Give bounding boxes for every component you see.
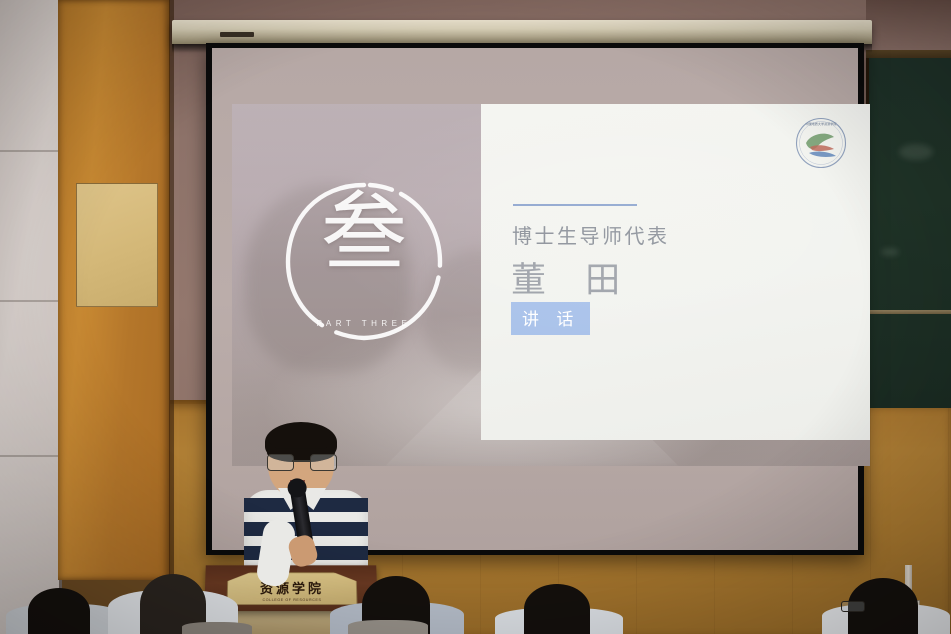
section-caption: PART THREE [278, 319, 450, 328]
audience-head [28, 588, 90, 634]
left-plaster-wall [0, 0, 62, 634]
audience-shoulder [348, 620, 428, 634]
podium-subtitle: COLLEGE OF RESOURCES [228, 598, 357, 602]
title-rule [513, 204, 637, 206]
wooden-door-panel [58, 0, 170, 580]
projected-slide: 叁 PART THREE 中国地质大学资源学院 博士生导师代表 董 田 讲 话 [232, 104, 870, 466]
speech-badge: 讲 话 [511, 302, 590, 335]
audience-glasses-icon [841, 601, 865, 612]
section-emblem: 叁 PART THREE [278, 176, 450, 348]
slide-content-card: 中国地质大学资源学院 博士生导师代表 董 田 讲 话 [481, 104, 870, 440]
university-seal-icon: 中国地质大学资源学院 [794, 116, 848, 170]
door-placard [76, 183, 158, 307]
svg-text:中国地质大学资源学院: 中国地质大学资源学院 [806, 121, 837, 126]
screen-roller-housing [172, 20, 872, 44]
right-plaster-strip [866, 0, 951, 52]
speaker-name: 董 田 [511, 252, 634, 303]
chalkboard [866, 58, 951, 408]
speaker-role-title: 博士生导师代表 [512, 220, 670, 249]
speaker-glasses-icon [267, 454, 335, 469]
audience-shoulder [182, 622, 252, 634]
audience-head [524, 584, 590, 634]
podium-title: 资源学院 [228, 578, 356, 597]
podium-nameplate: 资源学院 COLLEGE OF RESOURCES [227, 572, 358, 605]
lecture-hall-scene: 叁 PART THREE 中国地质大学资源学院 博士生导师代表 董 田 讲 话 [0, 0, 951, 634]
section-number: 叁 [278, 190, 450, 276]
